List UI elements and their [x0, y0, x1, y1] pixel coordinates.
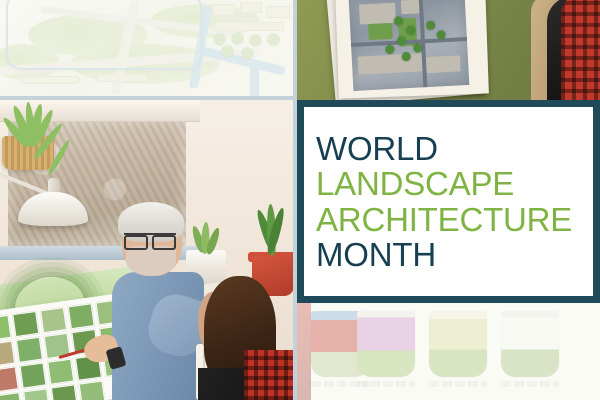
- man-beard: [126, 246, 176, 276]
- wlam-headline-card: WORLD LANDSCAPE ARCHITECTURE MONTH: [297, 100, 600, 303]
- headline-line-architecture: ARCHITECTURE: [316, 202, 593, 237]
- tree-board-fade-overlay: [297, 303, 600, 400]
- collage-canvas: WORLD LANDSCAPE ARCHITECTURE MONTH: [0, 0, 600, 400]
- wlam-headline-text: WORLD LANDSCAPE ARCHITECTURE MONTH: [304, 131, 593, 272]
- headline-line-month: MONTH: [316, 237, 593, 272]
- red-plaid-jacket: [561, 0, 600, 100]
- site-plan-fade-overlay: [0, 0, 293, 96]
- panel-plant-palette-review: [0, 100, 293, 400]
- panel-tree-species-board: [297, 303, 600, 400]
- panel-site-plan: [0, 0, 293, 96]
- aerial-site-plan-print: [349, 0, 470, 91]
- second-person-red-plaid: [244, 350, 293, 400]
- eyeglasses: [124, 233, 176, 245]
- panel-printed-plan-on-table: [297, 0, 600, 100]
- headline-line-landscape: LANDSCAPE: [316, 166, 593, 201]
- headline-line-world: WORLD: [316, 131, 593, 166]
